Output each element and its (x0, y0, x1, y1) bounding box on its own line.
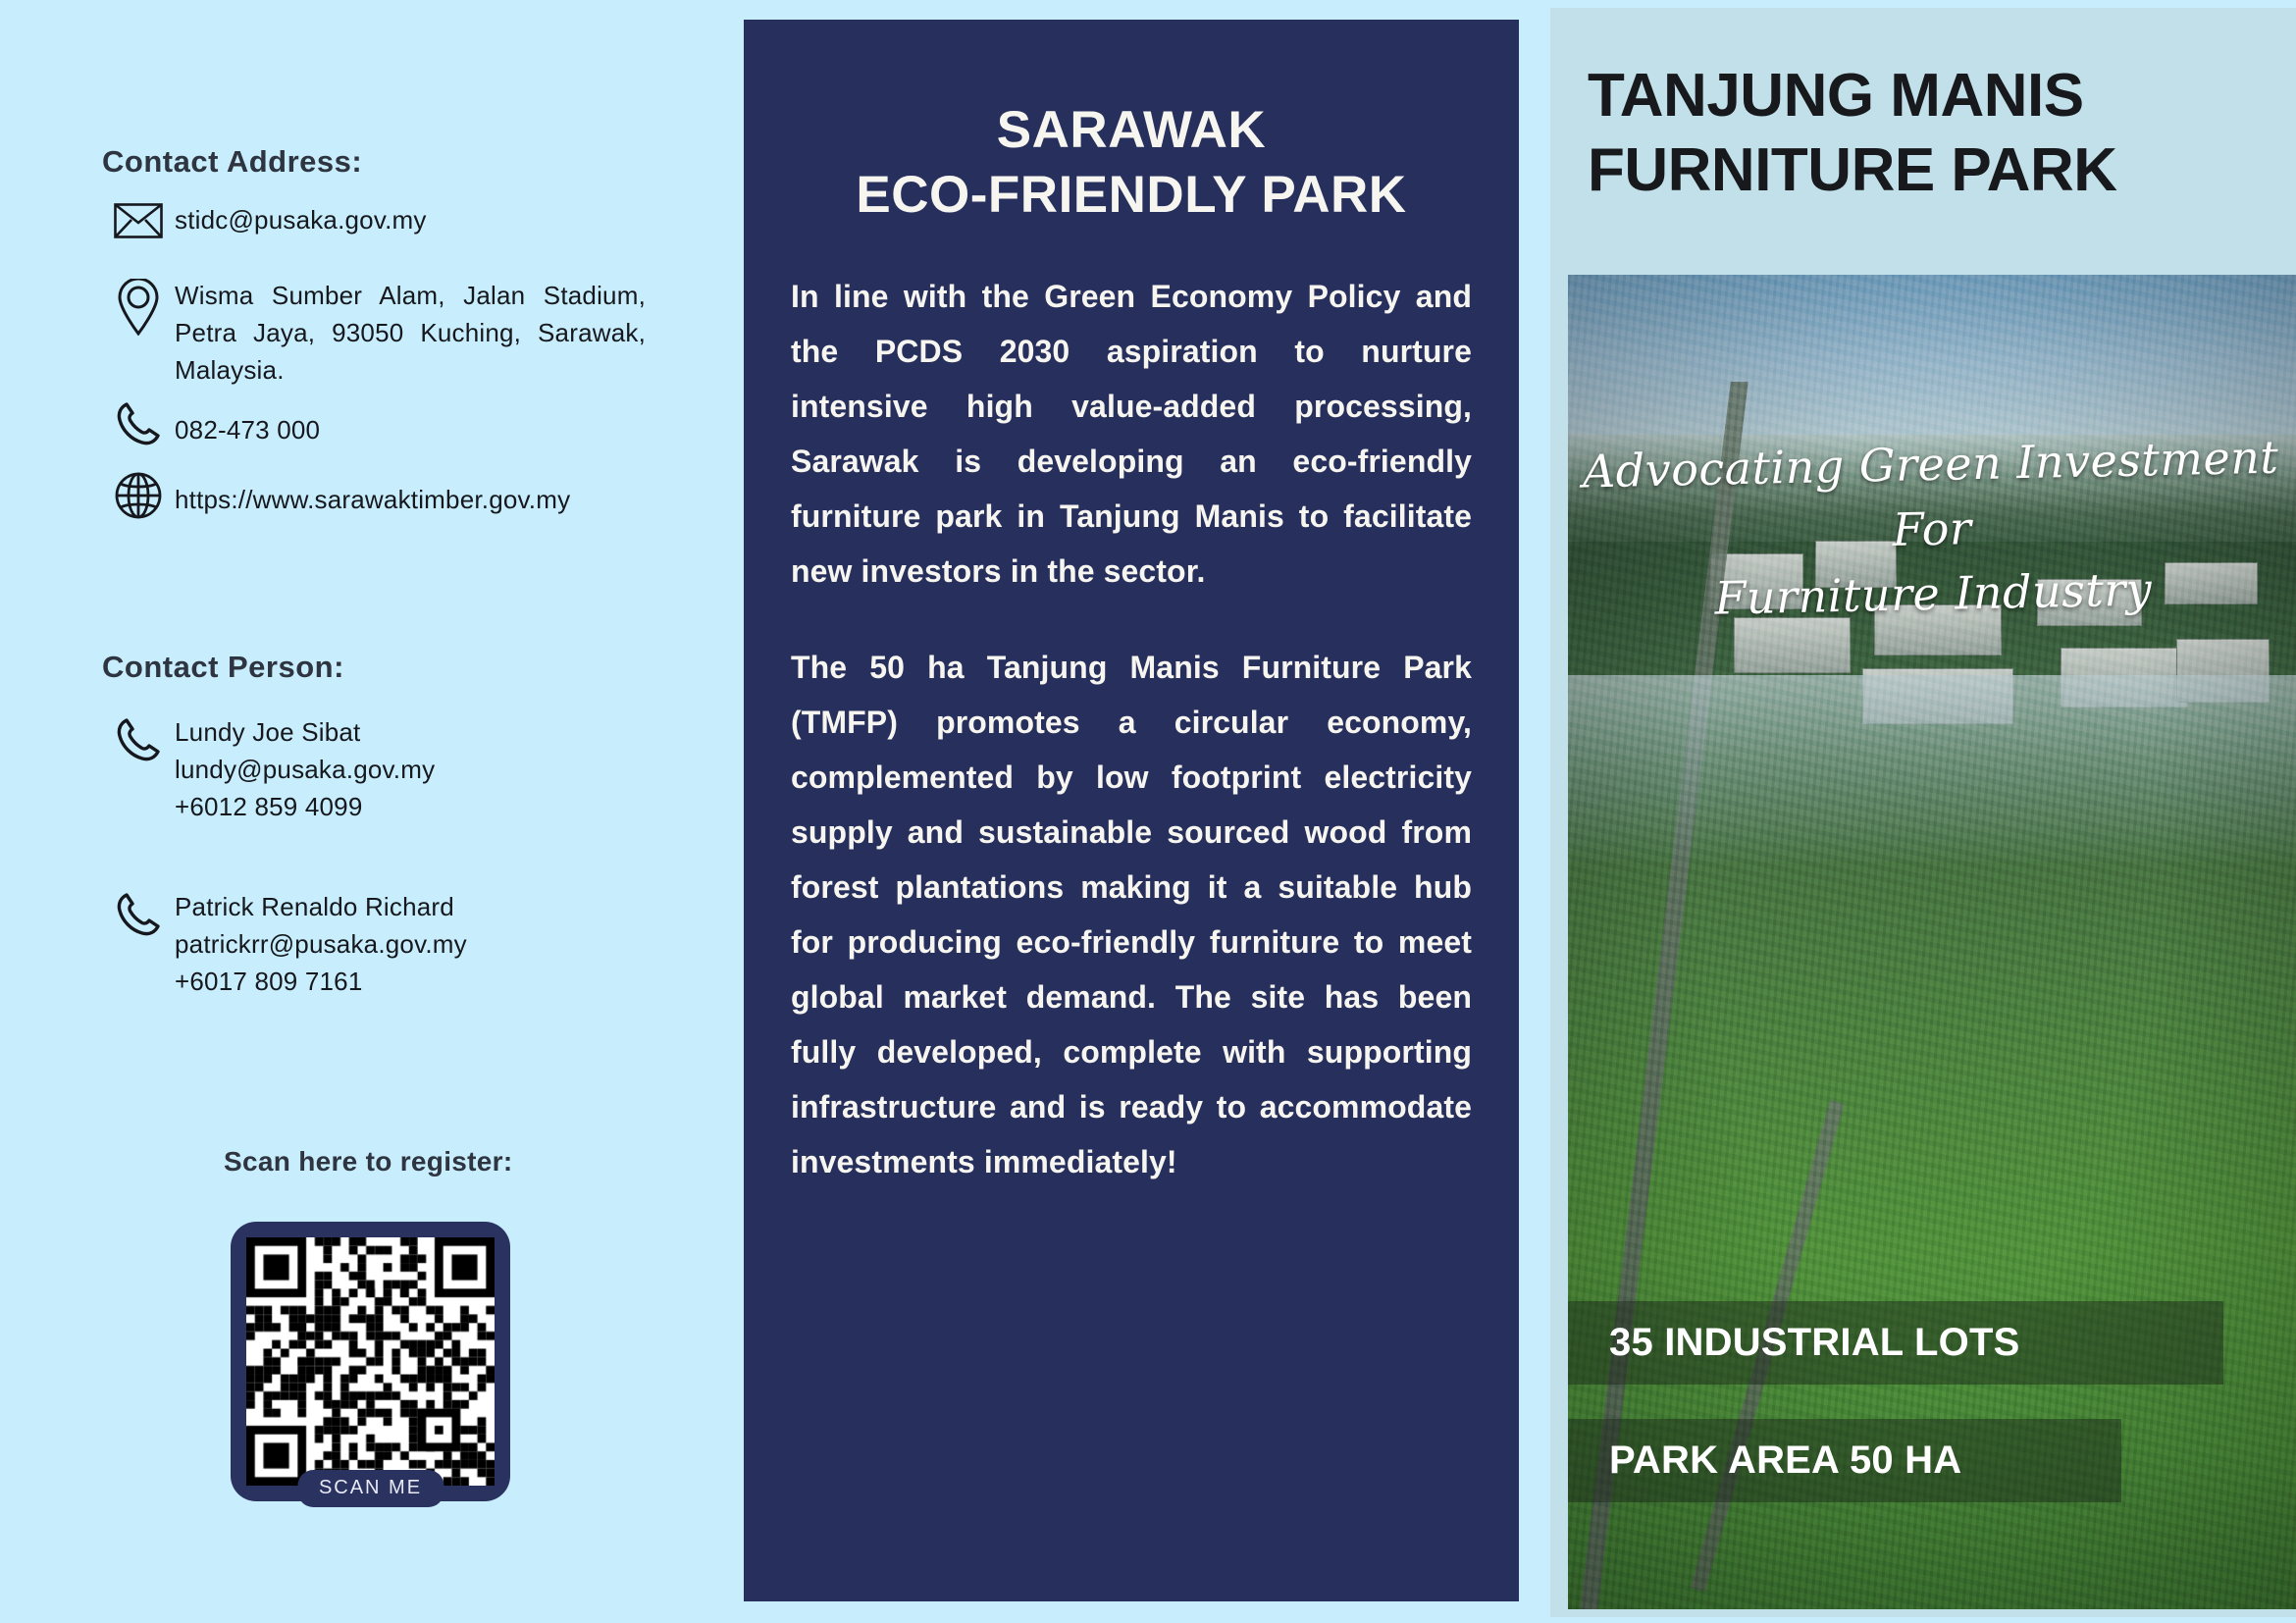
center-paragraph-1: In line with the Green Economy Policy an… (791, 269, 1472, 599)
phone-icon (102, 713, 175, 764)
phone-icon (102, 888, 175, 939)
caption-line1: Advocating Green Investment For (1582, 431, 2278, 556)
right-title-line2: FURNITURE PARK (1588, 133, 2274, 208)
center-title-line2: ECO-FRIENDLY PARK (791, 163, 1472, 228)
person-2-name: Patrick Renaldo Richard (175, 888, 467, 925)
globe-icon (102, 469, 175, 520)
contact-website-text[interactable]: https://www.sarawaktimber.gov.my (175, 469, 570, 518)
left-contact-panel: Contact Address: stidc@pusaka.gov.my (0, 0, 746, 1623)
person-1-name: Lundy Joe Sibat (175, 713, 435, 751)
qr-code-canvas (246, 1237, 495, 1486)
contact-email-text[interactable]: stidc@pusaka.gov.my (175, 201, 427, 238)
person-1-phone[interactable]: +6012 859 4099 (175, 788, 435, 825)
qr-code-image[interactable] (246, 1237, 495, 1486)
person-1-email[interactable]: lundy@pusaka.gov.my (175, 751, 435, 788)
person-2-email[interactable]: patrickrr@pusaka.gov.my (175, 925, 467, 963)
center-navy-panel: SARAWAK ECO-FRIENDLY PARK In line with t… (744, 20, 1519, 1601)
brochure-page: Contact Address: stidc@pusaka.gov.my (0, 0, 2296, 1623)
center-panel-title: SARAWAK ECO-FRIENDLY PARK (791, 98, 1472, 228)
contact-row-website: https://www.sarawaktimber.gov.my (102, 469, 570, 520)
contact-person-heading: Contact Person: (102, 650, 344, 685)
contact-row-phone: 082-473 000 (102, 397, 320, 448)
center-title-line1: SARAWAK (997, 101, 1266, 159)
contact-phone-text[interactable]: 082-473 000 (175, 397, 320, 448)
right-panel-title: TANJUNG MANIS FURNITURE PARK (1550, 8, 2296, 208)
contact-address-heading: Contact Address: (102, 144, 362, 180)
contact-row-email: stidc@pusaka.gov.my (102, 201, 427, 238)
scan-register-heading: Scan here to register: (224, 1146, 512, 1178)
envelope-icon (102, 201, 175, 238)
scan-me-label: SCAN ME (297, 1470, 444, 1507)
person-2-phone[interactable]: +6017 809 7161 (175, 963, 467, 1000)
contact-person-1: Lundy Joe Sibat lundy@pusaka.gov.my +601… (102, 713, 435, 825)
phone-icon (102, 397, 175, 448)
stat-industrial-lots: 35 INDUSTRIAL LOTS (1568, 1301, 2223, 1385)
contact-row-address: Wisma Sumber Alam, Jalan Stadium, Petra … (102, 277, 646, 389)
person-2-details: Patrick Renaldo Richard patrickrr@pusaka… (175, 888, 467, 1000)
right-title-line1: TANJUNG MANIS (1588, 62, 2084, 130)
location-pin-icon (102, 277, 175, 336)
aerial-photo: Advocating Green Investment For Furnitur… (1568, 275, 2296, 1609)
person-1-details: Lundy Joe Sibat lundy@pusaka.gov.my +601… (175, 713, 435, 825)
qr-code-frame[interactable]: SCAN ME (231, 1222, 510, 1501)
center-panel-body: In line with the Green Economy Policy an… (791, 269, 1472, 1189)
right-photo-panel: TANJUNG MANIS FURNITURE PARK (1550, 8, 2296, 1617)
photo-script-caption: Advocating Green Investment For Furnitur… (1568, 424, 2296, 633)
contact-address-text: Wisma Sumber Alam, Jalan Stadium, Petra … (175, 277, 646, 389)
stat-park-area: PARK AREA 50 HA (1568, 1419, 2121, 1502)
center-paragraph-2: The 50 ha Tanjung Manis Furniture Park (… (791, 640, 1472, 1189)
contact-person-2: Patrick Renaldo Richard patrickrr@pusaka… (102, 888, 467, 1000)
